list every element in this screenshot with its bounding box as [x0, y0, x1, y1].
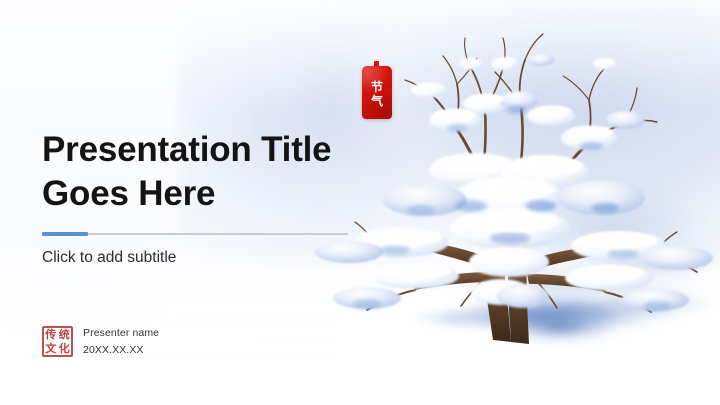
title-divider [42, 232, 348, 235]
divider-accent [42, 232, 88, 236]
presenter-name[interactable]: Presenter name [83, 327, 159, 339]
presentation-date[interactable]: 20XX.XX.XX [83, 344, 159, 356]
seal-char-2: 统 [58, 328, 72, 342]
sky-wash-lower-right [470, 150, 720, 310]
snow-shadow-upper [430, 268, 720, 302]
snow-shadow-pool [500, 312, 620, 346]
snow-shadow-core [430, 300, 610, 334]
culture-seal-icon: 传 统 文 化 [42, 326, 73, 357]
footer: 传 统 文 化 Presenter name 20XX.XX.XX [42, 326, 159, 357]
lantern-char-top: 节 [371, 81, 383, 93]
snow-shadow-main [468, 290, 698, 336]
seal-char-3: 文 [44, 342, 58, 356]
presenter-meta: Presenter name 20XX.XX.XX [83, 327, 159, 356]
page-title[interactable]: Presentation Title Goes Here [42, 128, 362, 216]
seal-char-4: 化 [58, 342, 72, 356]
lantern-seal-icon: 节 气 [362, 66, 392, 119]
snow-shadow-left [390, 306, 510, 330]
snow-field [0, 245, 720, 405]
snow-tree-illustration [305, 10, 720, 350]
top-fade-overlay [0, 0, 720, 110]
presentation-slide: 节 气 Presentation Title Goes Here Click t… [0, 0, 720, 405]
snow-ridge-right [300, 263, 720, 358]
page-subtitle[interactable]: Click to add subtitle [42, 249, 362, 267]
title-block: Presentation Title Goes Here Click to ad… [42, 128, 362, 267]
lantern-char-bottom: 气 [371, 95, 383, 107]
snow-shadow-far [560, 252, 720, 280]
snow-shadow-tail [600, 288, 720, 318]
seal-char-1: 传 [44, 328, 58, 342]
